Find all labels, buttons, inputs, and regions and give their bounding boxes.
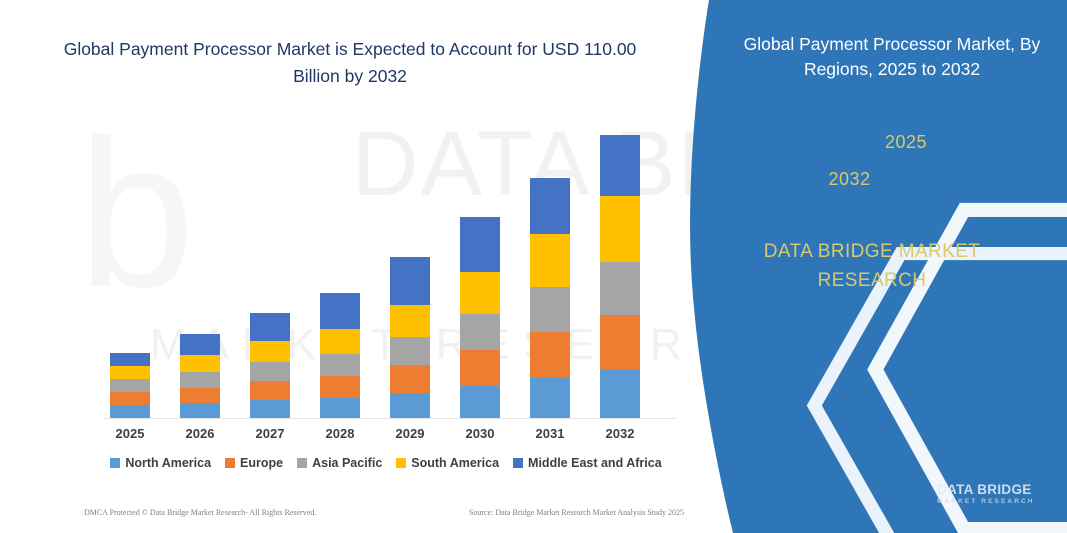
hexagon-2032-label: 2032 — [828, 169, 870, 190]
bar-2032[interactable] — [600, 110, 640, 418]
bar-2030[interactable] — [460, 110, 500, 418]
hexagon-2025: 2025 — [862, 103, 950, 181]
bar-segment[interactable] — [250, 341, 290, 362]
bar-segment[interactable] — [180, 388, 220, 403]
bar-segment[interactable] — [600, 370, 640, 418]
bar-2028[interactable] — [320, 110, 360, 418]
bar-2026[interactable] — [180, 110, 220, 418]
bar-segment[interactable] — [180, 403, 220, 418]
legend-swatch-icon — [396, 458, 406, 468]
logo-title: DATA BRIDGE — [937, 483, 1035, 497]
legend-swatch-icon — [110, 458, 120, 468]
bar-segment[interactable] — [600, 315, 640, 370]
bar-segment[interactable] — [320, 329, 360, 354]
bar-segment[interactable] — [530, 234, 570, 287]
bar-segment[interactable] — [530, 287, 570, 332]
bar-segment[interactable] — [390, 365, 430, 393]
bar-segment[interactable] — [460, 350, 500, 386]
bar-segment[interactable] — [320, 376, 360, 398]
x-axis-label-2028: 2028 — [305, 426, 375, 441]
hexagon-group: 2032 2025 — [777, 103, 967, 218]
infographic-root: b DATA BRI MARKET RESEARCH Global Paymen… — [0, 0, 1067, 533]
x-axis-labels: 20252026202720282029203020312032 — [96, 426, 676, 446]
company-logo: DATA BRIDGE MARKET RESEARCH — [889, 473, 1039, 515]
bar-segment[interactable] — [250, 400, 290, 418]
footer-copyright: DMCA Protected © Data Bridge Market Rese… — [84, 508, 316, 517]
footer-source: Source: Data Bridge Market Research Mark… — [469, 508, 684, 517]
bar-segment[interactable] — [250, 362, 290, 381]
legend-label: Europe — [240, 456, 283, 470]
bar-segment[interactable] — [390, 337, 430, 365]
bar-segment[interactable] — [110, 366, 150, 379]
bar-segment[interactable] — [600, 135, 640, 196]
bar-segment[interactable] — [320, 354, 360, 376]
bar-segment[interactable] — [180, 334, 220, 355]
footer: DMCA Protected © Data Bridge Market Rese… — [84, 508, 684, 517]
right-panel: Global Payment Processor Market, By Regi… — [677, 0, 1067, 533]
bar-segment[interactable] — [600, 196, 640, 262]
x-axis-label-2031: 2031 — [515, 426, 585, 441]
bar-2025[interactable] — [110, 110, 150, 418]
logo-subtitle: MARKET RESEARCH — [937, 499, 1035, 506]
bar-segment[interactable] — [110, 392, 150, 405]
legend-item[interactable]: Asia Pacific — [297, 456, 382, 470]
legend-label: Asia Pacific — [312, 456, 382, 470]
legend-swatch-icon — [225, 458, 235, 468]
bar-chart — [96, 110, 676, 420]
legend-swatch-icon — [297, 458, 307, 468]
x-axis-label-2026: 2026 — [165, 426, 235, 441]
legend-label: North America — [125, 456, 211, 470]
legend-item[interactable]: Europe — [225, 456, 283, 470]
bar-segment[interactable] — [320, 398, 360, 418]
x-axis-label-2030: 2030 — [445, 426, 515, 441]
legend-label: South America — [411, 456, 499, 470]
legend-item[interactable]: Middle East and Africa — [513, 456, 662, 470]
bar-segment[interactable] — [110, 405, 150, 418]
panel-title: Global Payment Processor Market, By Regi… — [737, 32, 1047, 82]
bar-segment[interactable] — [390, 257, 430, 305]
bar-segment[interactable] — [320, 293, 360, 329]
bar-segment[interactable] — [460, 314, 500, 350]
bar-segment[interactable] — [460, 217, 500, 272]
logo-text: DATA BRIDGE MARKET RESEARCH — [937, 483, 1035, 506]
chart-plot-area — [96, 110, 676, 420]
bar-segment[interactable] — [530, 332, 570, 378]
bar-segment[interactable] — [250, 381, 290, 400]
bar-segment[interactable] — [390, 305, 430, 337]
chart-legend: North AmericaEuropeAsia PacificSouth Ame… — [96, 456, 676, 470]
x-axis-label-2032: 2032 — [585, 426, 655, 441]
bar-segment[interactable] — [530, 178, 570, 234]
bar-segment[interactable] — [110, 353, 150, 366]
x-axis-label-2025: 2025 — [95, 426, 165, 441]
bar-segment[interactable] — [250, 313, 290, 341]
bar-segment[interactable] — [180, 355, 220, 372]
hexagon-outline-icon — [862, 103, 1067, 533]
bar-2031[interactable] — [530, 110, 570, 418]
bar-2029[interactable] — [390, 110, 430, 418]
legend-swatch-icon — [513, 458, 523, 468]
bar-segment[interactable] — [460, 272, 500, 314]
brand-name: DATA BRIDGE MARKET RESEARCH — [722, 237, 1022, 295]
legend-item[interactable]: North America — [110, 456, 211, 470]
bar-2027[interactable] — [250, 110, 290, 418]
bar-segment[interactable] — [390, 393, 430, 418]
bar-segment[interactable] — [600, 262, 640, 315]
page-title: Global Payment Processor Market is Expec… — [60, 36, 640, 90]
x-axis-label-2029: 2029 — [375, 426, 445, 441]
hexagon-2025-label: 2025 — [885, 132, 927, 153]
bar-segment[interactable] — [110, 379, 150, 392]
legend-label: Middle East and Africa — [528, 456, 662, 470]
legend-item[interactable]: South America — [396, 456, 499, 470]
bar-segment[interactable] — [180, 372, 220, 388]
bar-segment[interactable] — [460, 386, 500, 418]
bridge-logo-icon — [889, 474, 933, 514]
bar-segment[interactable] — [530, 378, 570, 418]
x-axis-label-2027: 2027 — [235, 426, 305, 441]
